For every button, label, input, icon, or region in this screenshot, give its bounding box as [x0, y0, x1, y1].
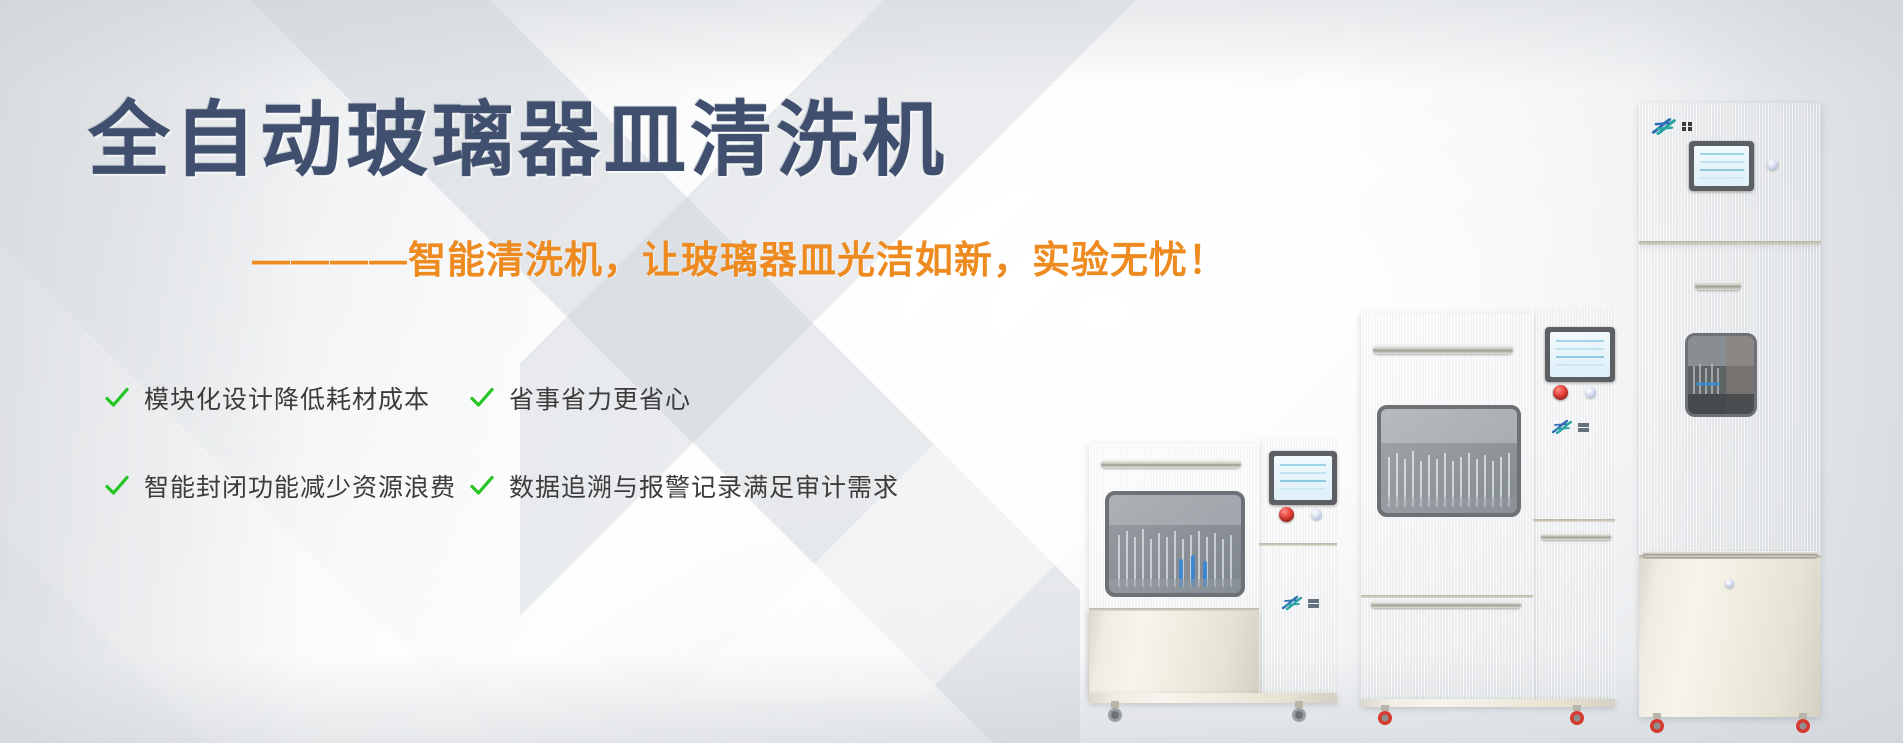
caster-wheel — [1793, 713, 1813, 735]
product-banner: 全自动玻璃器皿清洗机 ————智能清洗机，让玻璃器皿光洁如新，实验无忧！ 模块化… — [0, 0, 1903, 743]
banner-subtitle: ————智能清洗机，让玻璃器皿光洁如新，实验无忧！ — [252, 242, 1227, 280]
check-icon — [104, 385, 130, 411]
glassware-rack — [1381, 409, 1517, 513]
screen-display — [1274, 456, 1332, 500]
indicator-button[interactable] — [1311, 509, 1322, 520]
lower-compartment-handle[interactable] — [1643, 551, 1817, 557]
emergency-stop-button[interactable] — [1279, 507, 1294, 522]
indicator-button[interactable] — [1767, 159, 1778, 170]
feature-label: 智能封闭功能减少资源浪费 — [144, 468, 456, 504]
brand-logo — [1281, 595, 1319, 611]
screen-display — [1694, 146, 1749, 186]
check-icon — [469, 473, 495, 499]
brand-logo — [1551, 419, 1589, 435]
caster-wheel — [1567, 705, 1587, 727]
grid-squares-icon — [1682, 122, 1692, 132]
panel-seam — [1533, 519, 1615, 522]
indicator-button[interactable] — [1585, 387, 1596, 398]
screen-display — [1550, 332, 1610, 377]
door-handle[interactable] — [1101, 460, 1241, 468]
lock-knob[interactable] — [1725, 579, 1734, 588]
glassware-rack — [1688, 336, 1754, 414]
chamber-seam — [1361, 595, 1533, 598]
caster-wheel — [1647, 713, 1667, 735]
touch-screen[interactable] — [1545, 327, 1615, 382]
product-image-group — [1083, 0, 1903, 743]
feature-item-closed-loop: 智能封闭功能减少资源浪费 — [104, 468, 469, 504]
check-icon — [104, 473, 130, 499]
door-handle[interactable] — [1373, 345, 1513, 354]
viewing-window — [1377, 405, 1521, 517]
door-handle[interactable] — [1695, 281, 1741, 290]
service-door-handle[interactable] — [1541, 533, 1611, 540]
feature-label: 模块化设计降低耗材成本 — [144, 380, 430, 416]
caster-wheel — [1375, 705, 1395, 727]
product-tall-cabinet-washer — [1639, 103, 1829, 725]
product-freestanding-washer — [1361, 301, 1623, 723]
touch-screen[interactable] — [1689, 141, 1754, 191]
emergency-stop-button[interactable] — [1553, 385, 1568, 400]
feature-item-audit-trace: 数据追溯与报警记录满足审计需求 — [469, 468, 869, 504]
feature-list: 模块化设计降低耗材成本 省事省力更省心 智能封闭功能减少资源浪费 数据追溯与报警… — [104, 380, 1004, 504]
panel-seam — [1259, 543, 1337, 546]
caster-wheel — [1289, 701, 1309, 723]
product-undercounter-washer — [1089, 415, 1344, 723]
brand-wordmark — [1308, 599, 1319, 608]
chamber-seam — [1089, 608, 1259, 611]
check-icon — [469, 385, 495, 411]
lower-drawer — [1089, 611, 1259, 693]
feature-label: 数据追溯与报警记录满足审计需求 — [509, 468, 899, 504]
glassware-rack — [1109, 495, 1241, 593]
page-title: 全自动玻璃器皿清洗机 — [88, 100, 948, 182]
hualian-mark-icon — [1281, 595, 1305, 611]
brand-logo — [1651, 117, 1692, 136]
brand-wordmark — [1578, 423, 1589, 432]
viewing-window — [1105, 491, 1245, 597]
hualian-mark-icon — [1551, 419, 1575, 435]
touch-screen[interactable] — [1269, 451, 1337, 505]
banner-copy: 全自动玻璃器皿清洗机 ————智能清洗机，让玻璃器皿光洁如新，实验无忧！ 模块化… — [0, 0, 1120, 743]
lower-door-handle[interactable] — [1371, 601, 1521, 608]
feature-item-labor-saving: 省事省力更省心 — [469, 380, 869, 416]
caster-wheel — [1105, 701, 1125, 723]
feature-item-modular-cost: 模块化设计降低耗材成本 — [104, 380, 469, 416]
hualian-mark-icon — [1651, 117, 1679, 136]
viewing-window — [1685, 333, 1757, 417]
feature-label: 省事省力更省心 — [509, 380, 691, 416]
